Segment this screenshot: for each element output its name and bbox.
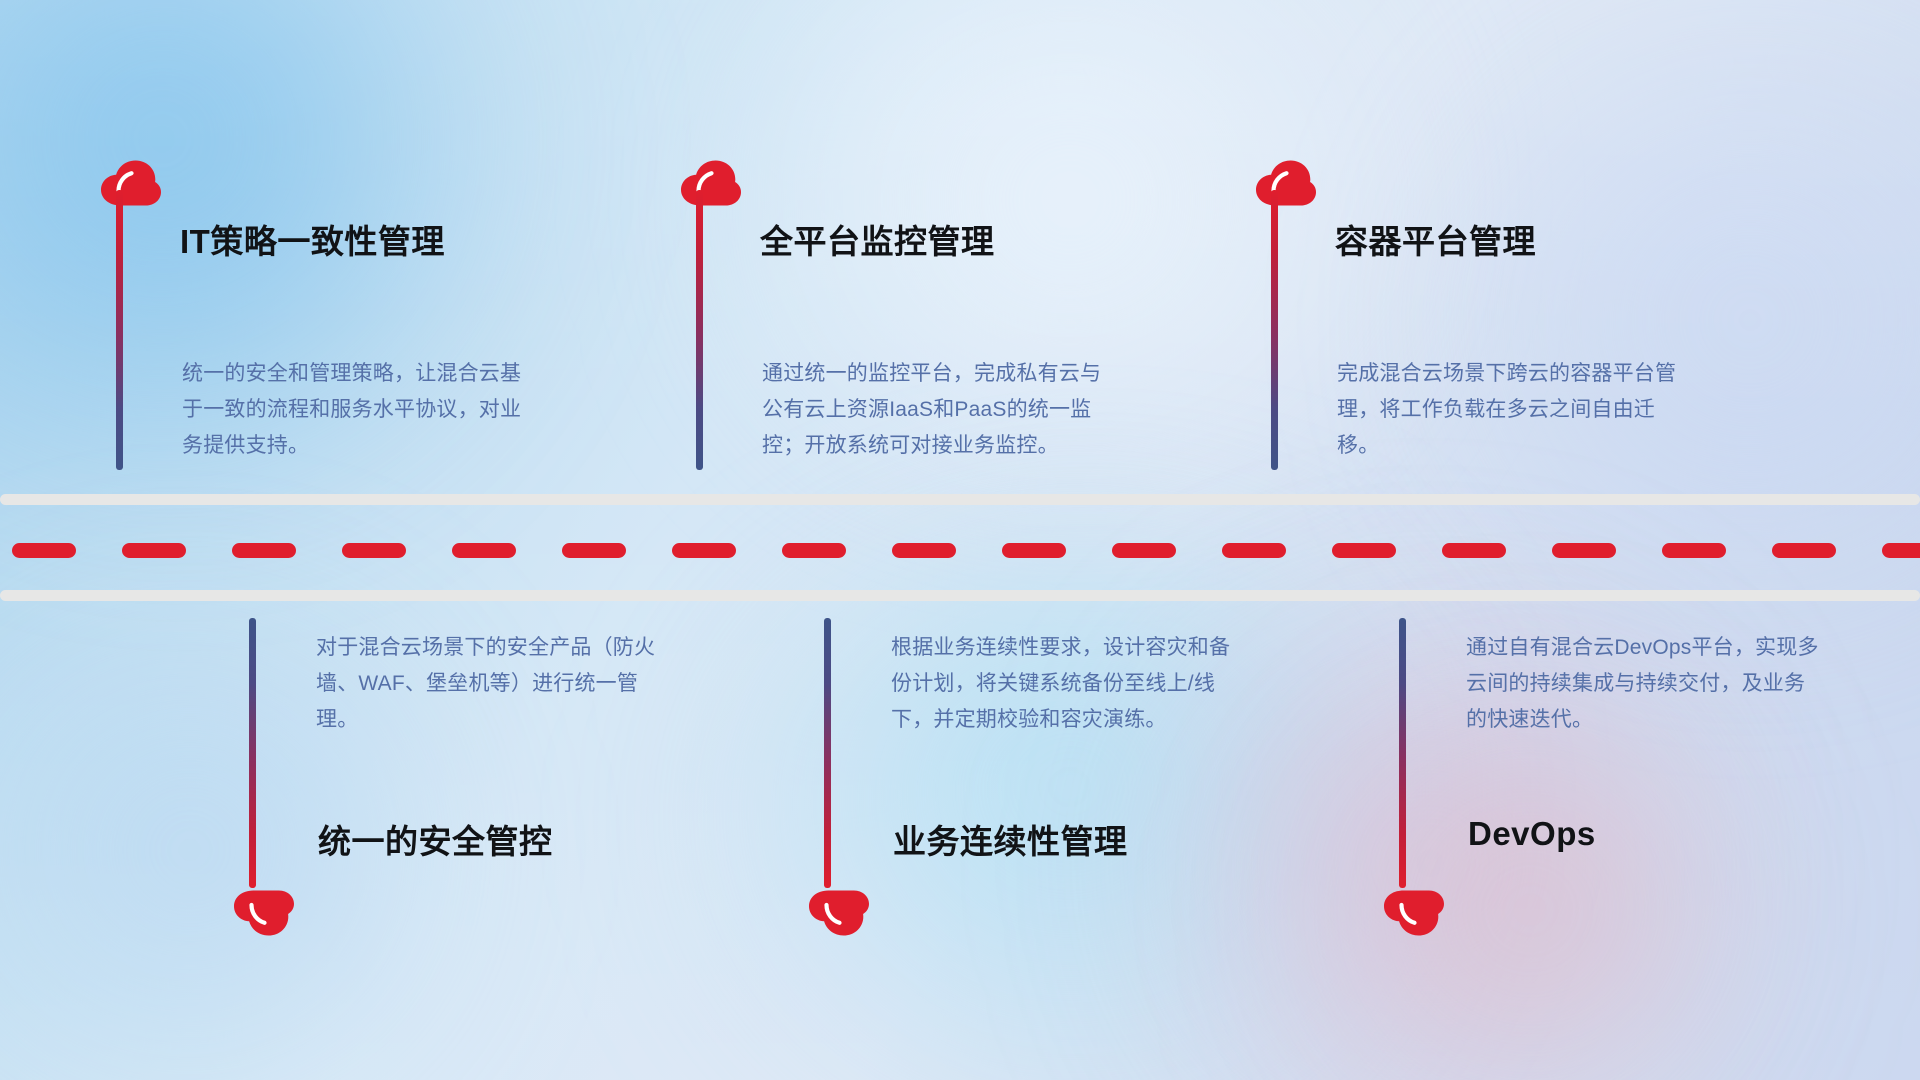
card-title: 全平台监控管理 [760, 215, 995, 263]
dash-segment [452, 543, 516, 558]
dash-segment [1662, 543, 1726, 558]
connector-line [824, 618, 831, 888]
cloud-icon [233, 890, 295, 936]
dash-segment [892, 543, 956, 558]
dash-segment [782, 543, 846, 558]
card-title: 业务连续性管理 [893, 815, 1128, 863]
dash-segment [122, 543, 186, 558]
cloud-icon [808, 890, 870, 936]
dash-segment [1772, 543, 1836, 558]
card-description: 通过统一的监控平台，完成私有云与公有云上资源IaaS和PaaS的统一监控；开放系… [762, 356, 1122, 464]
card-description: 统一的安全和管理策略，让混合云基于一致的流程和服务水平协议，对业务提供支持。 [182, 356, 542, 464]
dash-segment [672, 543, 736, 558]
card-title: IT策略一致性管理 [180, 215, 445, 263]
dash-segment [1112, 543, 1176, 558]
dash-segment [1882, 543, 1920, 558]
cloud-icon [100, 160, 162, 206]
card-description: 完成混合云场景下跨云的容器平台管理，将工作负载在多云之间自由迁移。 [1337, 356, 1697, 464]
divider-dashed-line [0, 542, 1920, 558]
dash-segment [1222, 543, 1286, 558]
dash-segment [12, 543, 76, 558]
divider-edge-bottom [0, 590, 1920, 601]
card-title: 统一的安全管控 [318, 815, 553, 863]
dash-segment [1002, 543, 1066, 558]
infographic-stage: IT策略一致性管理 统一的安全和管理策略，让混合云基于一致的流程和服务水平协议，… [0, 0, 1920, 1080]
dash-segment [1552, 543, 1616, 558]
dash-segment [232, 543, 296, 558]
divider-edge-top [0, 494, 1920, 505]
card-title: 容器平台管理 [1335, 215, 1536, 263]
card-description: 通过自有混合云DevOps平台，实现多云间的持续集成与持续交付，及业务的快速迭代… [1466, 630, 1826, 738]
card-description: 根据业务连续性要求，设计容灾和备份计划，将关键系统备份至线上/线下，并定期校验和… [891, 630, 1251, 738]
card-description: 对于混合云场景下的安全产品（防火墙、WAF、堡垒机等）进行统一管理。 [316, 630, 676, 738]
cloud-icon [1383, 890, 1445, 936]
dash-segment [342, 543, 406, 558]
dash-segment [1332, 543, 1396, 558]
connector-line [249, 618, 256, 888]
connector-line [116, 190, 123, 470]
cloud-icon [680, 160, 742, 206]
dash-segment [562, 543, 626, 558]
cloud-icon [1255, 160, 1317, 206]
card-title: DevOps [1468, 815, 1596, 853]
dash-segment [1442, 543, 1506, 558]
connector-line [1399, 618, 1406, 888]
connector-line [696, 190, 703, 470]
connector-line [1271, 190, 1278, 470]
